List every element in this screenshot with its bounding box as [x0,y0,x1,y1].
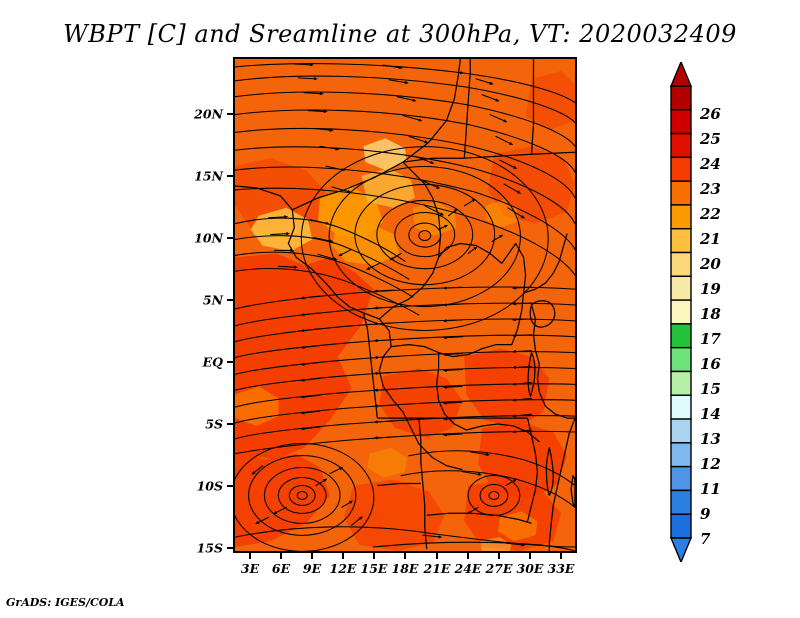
colorbar-band [671,205,691,229]
x-axis-label-3e: 3E [241,561,259,576]
colorbar-band [671,514,691,538]
colorbar [670,62,692,562]
x-tick-mark [373,553,375,559]
x-axis-label-6e: 6E [272,561,290,576]
colorbar-band [671,134,691,158]
colorbar-label-16: 16 [700,355,721,373]
colorbar-band [671,324,691,348]
colorbar-label-14: 14 [700,405,721,423]
y-axis-label-5n: 5N [175,293,223,308]
y-axis-label-10n: 10N [175,231,223,246]
x-axis-label-9e: 9E [303,561,321,576]
y-tick-mark [227,175,233,177]
colorbar-label-26: 26 [700,105,721,123]
colorbar-band [671,229,691,253]
colorbar-band [671,181,691,205]
colorbar-label-20: 20 [700,255,721,273]
colorbar-band [671,253,691,277]
x-tick-mark [467,553,469,559]
page-title: WBPT [C] and Sreamline at 300hPa, VT: 20… [0,20,800,48]
colorbar-label-19: 19 [700,280,721,298]
x-axis-label-12e: 12E [330,561,357,576]
colorbar-band [671,110,691,134]
x-tick-mark [342,553,344,559]
colorbar-band [671,348,691,372]
y-tick-mark [227,237,233,239]
colorbar-band [671,300,691,324]
x-axis-label-27e: 27E [486,561,513,576]
map-canvas [235,59,575,551]
colorbar-band [671,490,691,514]
colorbar-band [671,443,691,467]
colorbar-label-24: 24 [700,155,721,173]
x-tick-mark [529,553,531,559]
y-tick-mark [227,485,233,487]
colorbar-bottom-arrow [671,538,691,562]
colorbar-band [671,419,691,443]
y-tick-mark [227,113,233,115]
colorbar-label-17: 17 [700,330,721,348]
colorbar-label-13: 13 [700,430,721,448]
colorbar-label-22: 22 [700,205,721,223]
y-axis-label-20n: 20N [175,107,223,122]
colorbar-label-9: 9 [700,505,710,523]
x-axis-label-33e: 33E [548,561,575,576]
colorbar-swatches [670,62,692,562]
colorbar-label-25: 25 [700,130,721,148]
x-tick-mark [249,553,251,559]
x-axis-label-30e: 30E [517,561,544,576]
colorbar-band [671,371,691,395]
y-tick-mark [227,547,233,549]
colorbar-label-18: 18 [700,305,721,323]
colorbar-label-15: 15 [700,380,721,398]
x-axis-label-21e: 21E [424,561,451,576]
colorbar-label-21: 21 [700,230,721,248]
y-tick-mark [227,423,233,425]
colorbar-label-23: 23 [700,180,721,198]
colorbar-top-arrow [671,62,691,86]
x-axis-label-18e: 18E [392,561,419,576]
y-tick-mark [227,361,233,363]
colorbar-label-12: 12 [700,455,721,473]
map-plot-area [233,57,577,553]
colorbar-band [671,157,691,181]
colorbar-band [671,395,691,419]
colorbar-band [671,86,691,110]
grads-credit: GrADS: IGES/COLA [6,596,125,609]
colorbar-band [671,467,691,491]
x-tick-mark [560,553,562,559]
y-axis-label-10s: 10S [175,479,223,494]
colorbar-label-7: 7 [700,530,710,548]
x-axis-label-24e: 24E [455,561,482,576]
colorbar-label-11: 11 [700,480,721,498]
x-tick-mark [280,553,282,559]
y-axis-label-15n: 15N [175,169,223,184]
colorbar-band [671,276,691,300]
x-tick-mark [498,553,500,559]
x-tick-mark [436,553,438,559]
y-axis-label-5s: 5S [175,417,223,432]
y-axis-label-eq: EQ [175,355,223,370]
y-tick-mark [227,299,233,301]
x-tick-mark [404,553,406,559]
y-axis-label-15s: 15S [175,541,223,556]
x-tick-mark [311,553,313,559]
x-axis-label-15e: 15E [361,561,388,576]
